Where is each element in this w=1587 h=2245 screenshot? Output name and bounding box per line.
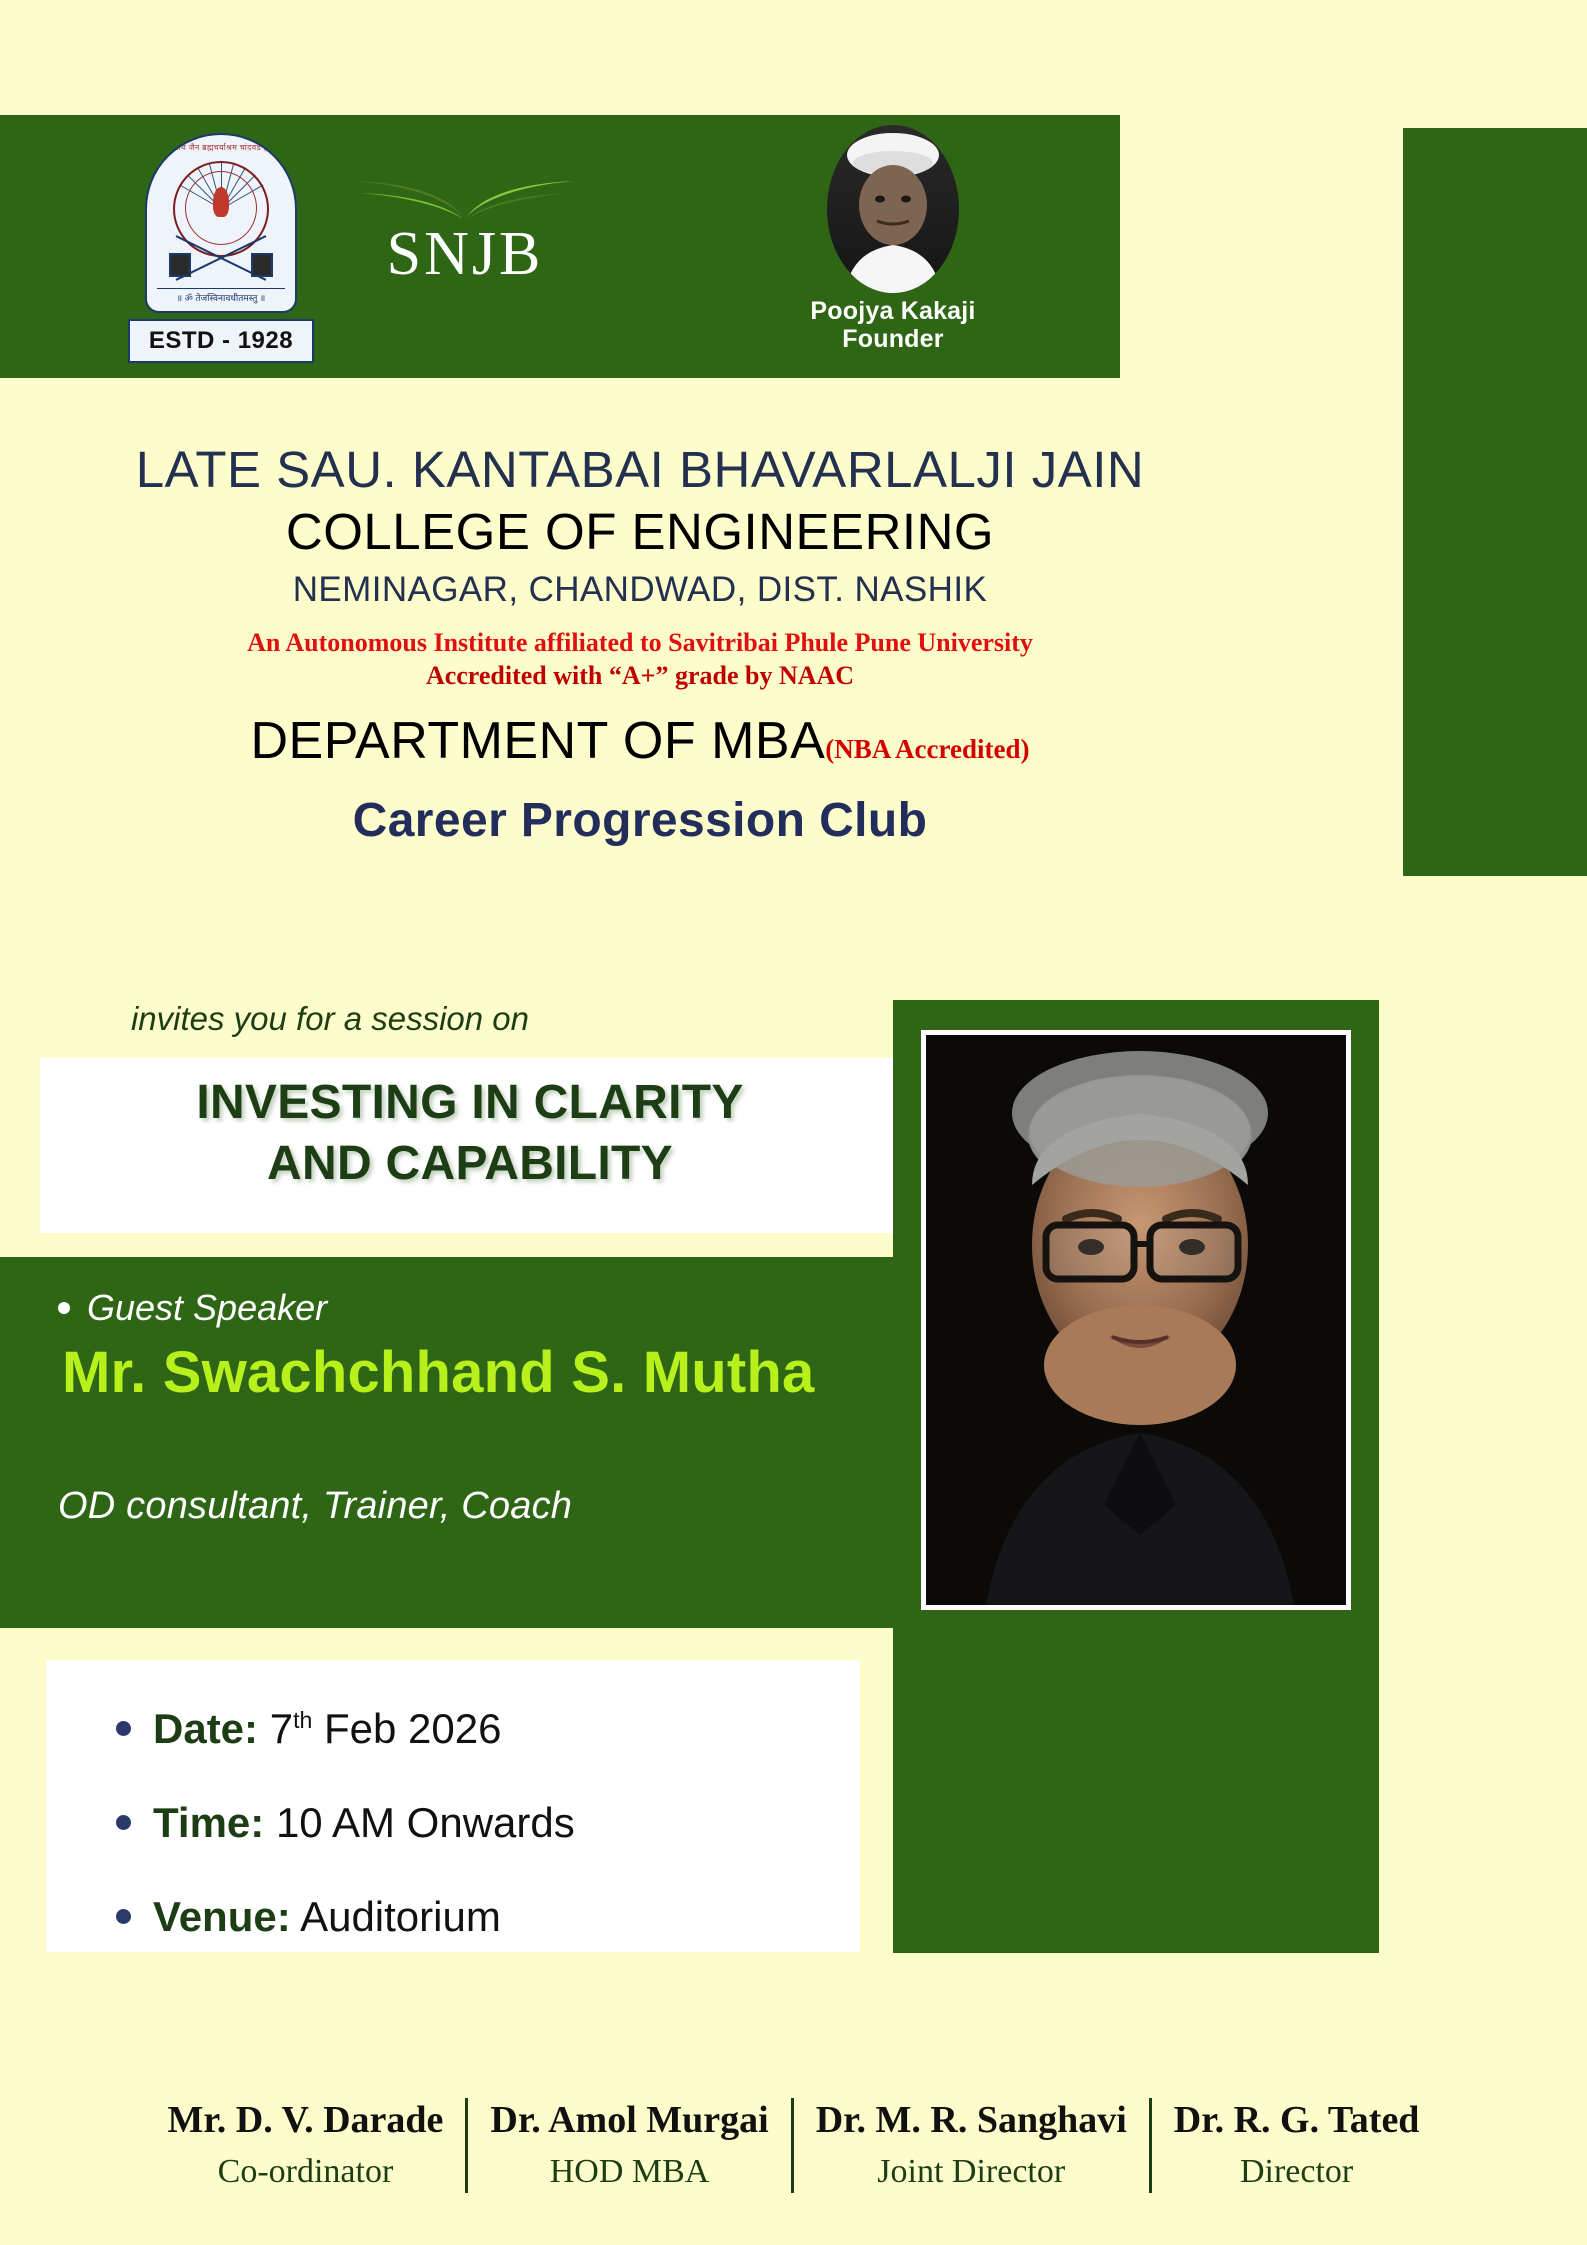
session-title: INVESTING IN CLARITY AND CAPABILITY xyxy=(40,1072,900,1195)
session-title-box: INVESTING IN CLARITY AND CAPABILITY xyxy=(40,1058,900,1233)
detail-row-date: Date: 7th Feb 2026 xyxy=(116,1708,501,1750)
crest-motto-text: ॥ ॐ तेजस्विनावधीतमस्तु ॥ xyxy=(157,288,285,304)
signatory: Dr. M. R. Sanghavi Joint Director xyxy=(791,2098,1149,2193)
bullet-icon xyxy=(116,1815,131,1830)
venue-value: Auditorium xyxy=(300,1893,501,1940)
club-name: Career Progression Club xyxy=(0,793,1280,848)
speaker-role-row: Guest Speaker xyxy=(58,1287,327,1329)
department-row: DEPARTMENT OF MBA(NBA Accredited) xyxy=(0,715,1280,767)
institute-header-block: LATE SAU. KANTABAI BHAVARLALJI JAIN COLL… xyxy=(0,440,1280,848)
signatory: Dr. Amol Murgai HOD MBA xyxy=(465,2098,790,2193)
snjb-logo: SNJB xyxy=(315,175,615,285)
founder-title-text: Founder xyxy=(842,325,943,353)
institute-address: NEMINAGAR, CHANDWAD, DIST. NASHIK xyxy=(0,565,1280,616)
signatory-role: HOD MBA xyxy=(490,2152,768,2193)
institute-affiliation: An Autonomous Institute affiliated to Sa… xyxy=(0,626,1280,659)
signatory-name: Dr. M. R. Sanghavi xyxy=(816,2098,1127,2144)
signatory-name: Mr. D. V. Darade xyxy=(168,2098,444,2144)
speaker-credentials: OD consultant, Trainer, Coach xyxy=(58,1485,572,1528)
institute-name-line1: LATE SAU. KANTABAI BHAVARLALJI JAIN xyxy=(0,440,1280,499)
time-label: Time: xyxy=(153,1799,264,1846)
signatory: Dr. R. G. Tated Director xyxy=(1149,2098,1442,2193)
signatory-role: Joint Director xyxy=(816,2152,1127,2193)
footer-signatories: Mr. D. V. Darade Co-ordinator Dr. Amol M… xyxy=(0,2098,1587,2193)
time-value: 10 AM Onwards xyxy=(276,1799,575,1846)
detail-row-time: Time: 10 AM Onwards xyxy=(116,1802,575,1844)
institute-name-line2: COLLEGE OF ENGINEERING xyxy=(0,499,1280,565)
speaker-photo xyxy=(921,1030,1351,1610)
bullet-icon xyxy=(116,1721,131,1736)
signatory: Mr. D. V. Darade Co-ordinator xyxy=(146,2098,466,2193)
crest-lamp-icon xyxy=(213,187,229,217)
department-name: DEPARTMENT OF MBA xyxy=(250,712,825,770)
session-title-line1: INVESTING IN CLARITY xyxy=(40,1072,900,1133)
snjb-book-swoosh-icon xyxy=(350,175,580,221)
college-crest-logo: श्री नेमिनाथ जैन ब्रह्मचर्याश्रम चांदवड … xyxy=(128,133,314,363)
speaker-panel: Guest Speaker Mr. Swachchhand S. Mutha O… xyxy=(0,1257,898,1628)
founder-name-text: Poojya Kakaji xyxy=(810,297,975,325)
bullet-icon xyxy=(116,1909,131,1924)
header-bar: श्री नेमिनाथ जैन ब्रह्मचर्याश्रम चांदवड … xyxy=(0,115,1120,378)
event-details-box: Date: 7th Feb 2026 Time: 10 AM Onwards V… xyxy=(46,1660,860,1952)
crest-base-right-icon xyxy=(251,253,273,277)
snjb-wordmark: SNJB xyxy=(315,223,615,285)
speaker-name: Mr. Swachchhand S. Mutha xyxy=(62,1340,882,1406)
invites-text: invites you for a session on xyxy=(0,1000,660,1038)
signatory-name: Dr. R. G. Tated xyxy=(1174,2098,1420,2144)
crest-marathi-top-text: श्री नेमिनाथ जैन ब्रह्मचर्याश्रम चांदवड … xyxy=(151,142,291,153)
signatory-role: Director xyxy=(1174,2152,1420,2193)
crest-shield-icon: श्री नेमिनाथ जैन ब्रह्मचर्याश्रम चांदवड … xyxy=(145,133,297,313)
signatory-name: Dr. Amol Murgai xyxy=(490,2098,768,2144)
venue-label: Venue: xyxy=(153,1893,291,1940)
signatory-role: Co-ordinator xyxy=(168,2152,444,2193)
bullet-icon xyxy=(58,1302,70,1314)
founder-block: Poojya Kakaji Founder xyxy=(768,125,1018,353)
detail-row-venue: Venue: Auditorium xyxy=(116,1896,501,1938)
session-title-line2: AND CAPABILITY xyxy=(40,1133,900,1194)
date-month-year: Feb 2026 xyxy=(312,1705,501,1752)
founder-portrait-photo xyxy=(827,125,959,293)
date-day: 7 xyxy=(270,1705,293,1752)
date-ordinal-suffix: th xyxy=(293,1707,312,1733)
crest-base-left-icon xyxy=(169,253,191,277)
speaker-role-label: Guest Speaker xyxy=(87,1287,327,1328)
crest-estd-label: ESTD - 1928 xyxy=(128,319,314,363)
date-label: Date: xyxy=(153,1705,258,1752)
founder-name-label: Poojya Kakaji Founder xyxy=(768,297,1018,353)
right-accent-block xyxy=(1403,128,1587,876)
speaker-photo-panel xyxy=(893,1000,1379,1953)
department-nba-note: (NBA Accredited) xyxy=(825,734,1029,764)
institute-accreditation: Accredited with “A+” grade by NAAC xyxy=(0,659,1280,692)
